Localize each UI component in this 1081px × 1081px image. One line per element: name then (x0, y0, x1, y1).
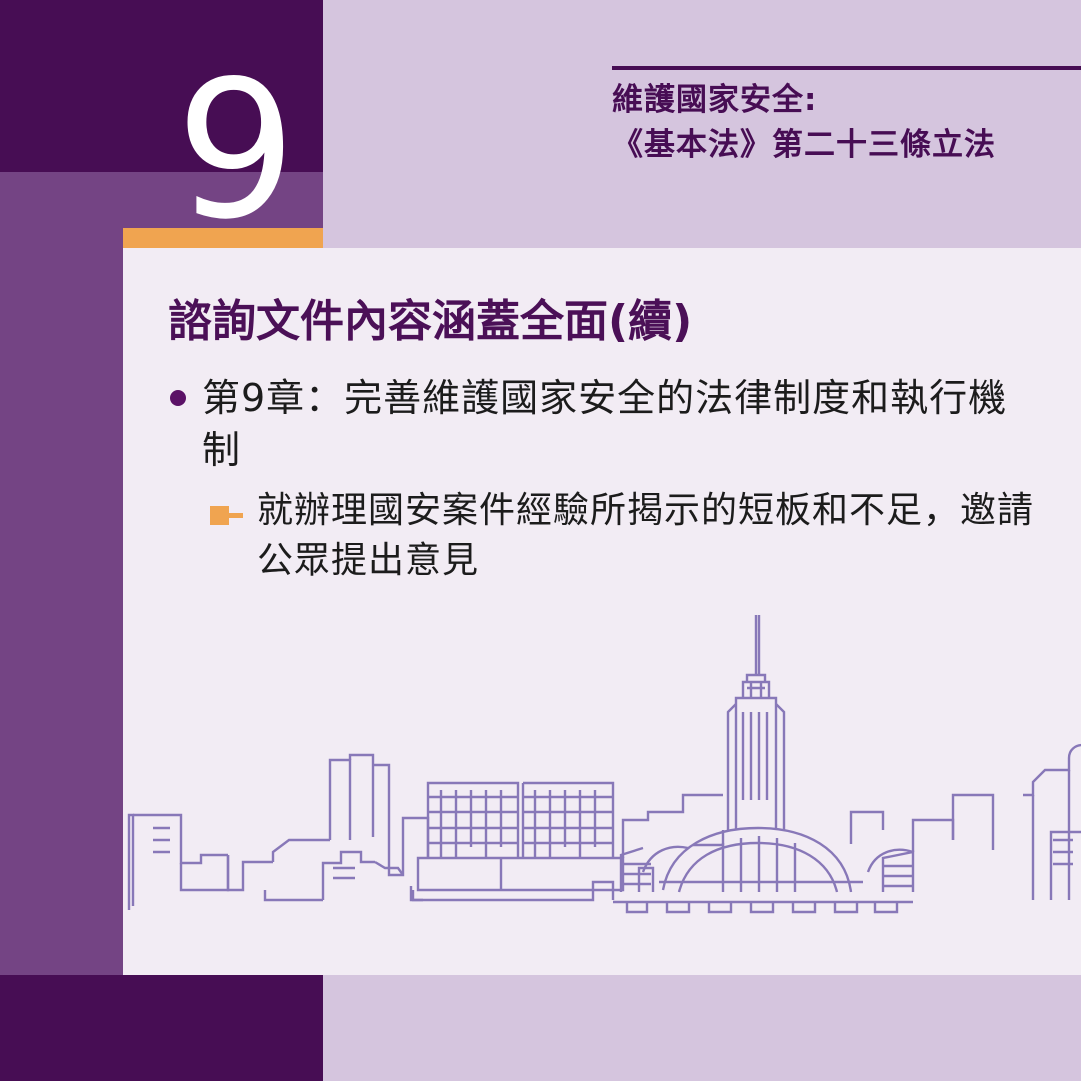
bullet-level2-text: 就辦理國安案件經驗所揭示的短板和不足，邀請公眾提出意見 (257, 486, 1047, 586)
round-dot-icon (170, 390, 186, 406)
slide-number: 9 (150, 56, 320, 246)
bullet-level1-text: 第9章：完善維護國家安全的法律制度和執行機制 (202, 372, 1022, 476)
header-title-line1: 維護國家安全: (612, 78, 1081, 123)
background-lavender-bottom (323, 975, 1081, 1081)
header-title: 維護國家安全: 《基本法》第二十三條立法 (612, 78, 1081, 168)
header-title-line2: 《基本法》第二十三條立法 (612, 123, 1081, 168)
orange-square-dash-icon (210, 506, 243, 525)
bullet-level2: 就辦理國安案件經驗所揭示的短板和不足，邀請公眾提出意見 (210, 486, 1060, 586)
background-dark-purple-bottom (0, 975, 323, 1081)
slide-root: 9 維護國家安全: 《基本法》第二十三條立法 諮詢文件內容涵蓋全面(續) 第9章… (0, 0, 1081, 1081)
skyline-illustration-far-right (880, 600, 1081, 930)
header-divider-rule (612, 66, 1081, 70)
bullet-level1: 第9章：完善維護國家安全的法律制度和執行機制 (170, 372, 1050, 476)
page-title: 諮詢文件內容涵蓋全面(續) (168, 295, 692, 349)
